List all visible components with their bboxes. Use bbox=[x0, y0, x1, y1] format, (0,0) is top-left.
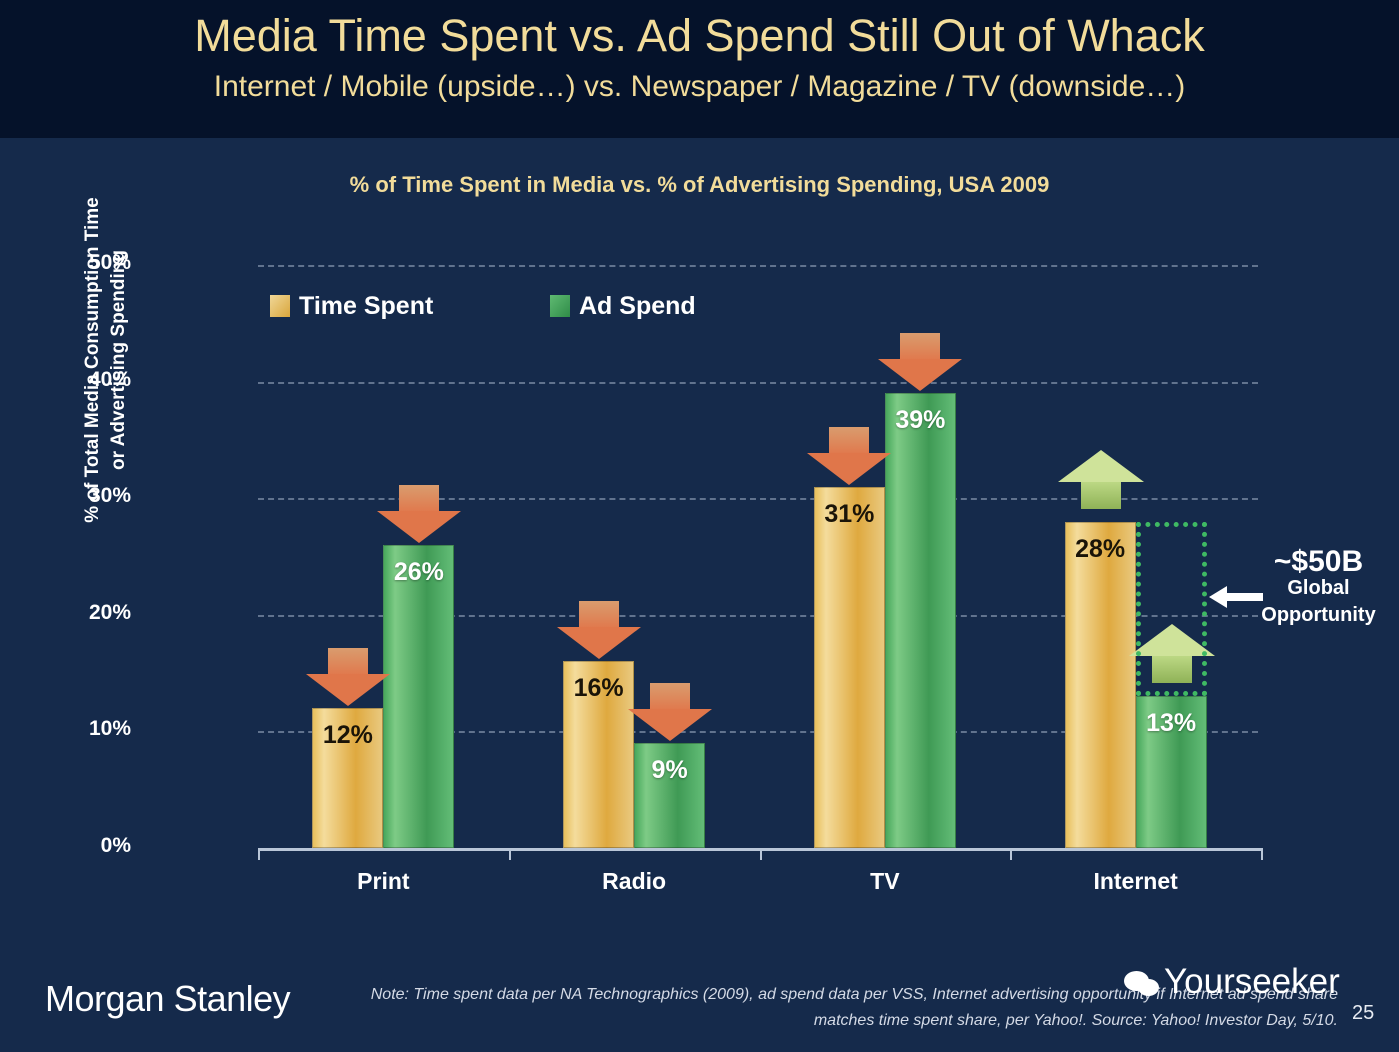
callout-amount: ~$50B bbox=[1238, 548, 1399, 575]
callout-line2: Global bbox=[1238, 575, 1399, 602]
arrow-head bbox=[628, 709, 712, 741]
legend-item-time-spent[interactable]: Time Spent bbox=[270, 292, 433, 324]
watermark-text: Yourseeker bbox=[1164, 962, 1340, 1002]
slide-subtitle: Internet / Mobile (upside…) vs. Newspape… bbox=[0, 70, 1399, 104]
x-axis-label-internet: Internet bbox=[1010, 868, 1261, 895]
x-axis-tick bbox=[258, 848, 260, 860]
legend-label: Time Spent bbox=[299, 292, 433, 320]
bar-value-label: 12% bbox=[313, 721, 382, 750]
slide-header: Media Time Spent vs. Ad Spend Still Out … bbox=[0, 0, 1399, 138]
wechat-icon bbox=[1124, 971, 1160, 999]
x-axis-label-print: Print bbox=[258, 868, 509, 895]
down-arrow-icon bbox=[306, 648, 390, 706]
x-axis-label-tv: TV bbox=[760, 868, 1011, 895]
morgan-stanley-logo: Morgan Stanley bbox=[45, 978, 290, 1020]
arrow-shaft bbox=[829, 427, 869, 453]
arrow-head bbox=[807, 453, 891, 485]
bar-print-ad-spend[interactable]: 26% bbox=[383, 545, 454, 848]
up-arrow-icon bbox=[1058, 450, 1142, 508]
arrow-shaft bbox=[1081, 482, 1121, 509]
bar-internet-time-spent[interactable]: 28% bbox=[1065, 522, 1136, 848]
bar-value-label: 16% bbox=[564, 674, 633, 703]
bar-print-time-spent[interactable]: 12% bbox=[312, 708, 383, 848]
bar-value-label: 9% bbox=[635, 756, 704, 785]
bar-tv-time-spent[interactable]: 31% bbox=[814, 487, 885, 848]
arrow-shaft bbox=[900, 333, 940, 359]
y-axis-tick-label: 40% bbox=[11, 368, 131, 392]
legend-swatch bbox=[550, 295, 570, 317]
bar-value-label: 31% bbox=[815, 500, 884, 529]
arrow-shaft bbox=[328, 648, 368, 674]
bar-radio-time-spent[interactable]: 16% bbox=[563, 661, 634, 848]
bar-radio-ad-spend[interactable]: 9% bbox=[634, 743, 705, 848]
opportunity-callout: ~$50B Global Opportunity bbox=[1238, 548, 1399, 629]
opportunity-gap-box bbox=[1136, 522, 1207, 697]
y-axis-tick-label: 0% bbox=[11, 834, 131, 858]
y-axis-title-line2: or Advertising Spending bbox=[108, 250, 129, 470]
y-axis-tick-label: 20% bbox=[11, 601, 131, 625]
y-axis-title-line1: % of Total Media Consumption Time bbox=[82, 197, 103, 522]
y-axis-tick-label: 10% bbox=[11, 717, 131, 741]
arrow-head bbox=[557, 627, 641, 659]
footnote-line1: Note: Time spent data per NA Technograph… bbox=[371, 986, 1246, 1003]
bar-internet-ad-spend[interactable]: 13% bbox=[1136, 696, 1207, 848]
x-axis-label-radio: Radio bbox=[509, 868, 760, 895]
arrow-head bbox=[1058, 450, 1144, 482]
arrow-shaft bbox=[650, 683, 690, 709]
slide-title: Media Time Spent vs. Ad Spend Still Out … bbox=[0, 10, 1399, 62]
down-arrow-icon bbox=[878, 333, 962, 391]
x-axis-tick bbox=[509, 848, 511, 860]
page-number: 25 bbox=[1352, 1002, 1374, 1025]
arrow-shaft bbox=[579, 601, 619, 627]
gridline bbox=[258, 382, 1258, 384]
bar-value-label: 26% bbox=[384, 558, 453, 587]
callout-line3: Opportunity bbox=[1238, 602, 1399, 629]
arrow-head bbox=[377, 511, 461, 543]
legend-swatch bbox=[270, 295, 290, 317]
x-axis-tick bbox=[760, 848, 762, 860]
bar-value-label: 13% bbox=[1137, 709, 1206, 738]
down-arrow-icon bbox=[628, 683, 712, 741]
bubble-small bbox=[1138, 979, 1159, 996]
down-arrow-icon bbox=[557, 601, 641, 659]
y-axis-title: % of Total Media Consumption Time or Adv… bbox=[80, 100, 140, 620]
legend-item-ad-spend[interactable]: Ad Spend bbox=[550, 292, 696, 324]
arrow-shaft bbox=[399, 485, 439, 511]
x-axis-tick bbox=[1261, 848, 1263, 860]
bar-tv-ad-spend[interactable]: 39% bbox=[885, 393, 956, 848]
arrow-head bbox=[306, 674, 390, 706]
x-axis-tick bbox=[1010, 848, 1012, 860]
bar-value-label: 39% bbox=[886, 406, 955, 435]
bar-value-label: 28% bbox=[1066, 535, 1135, 564]
down-arrow-icon bbox=[377, 485, 461, 543]
down-arrow-icon bbox=[807, 427, 891, 485]
y-axis-tick-label: 30% bbox=[11, 484, 131, 508]
arrow-head bbox=[878, 359, 962, 391]
legend-label: Ad Spend bbox=[579, 292, 696, 320]
gridline bbox=[258, 265, 1258, 267]
chart-title: % of Time Spent in Media vs. % of Advert… bbox=[0, 172, 1399, 198]
arrow-head bbox=[1209, 586, 1227, 608]
y-axis-tick-label: 50% bbox=[11, 251, 131, 275]
